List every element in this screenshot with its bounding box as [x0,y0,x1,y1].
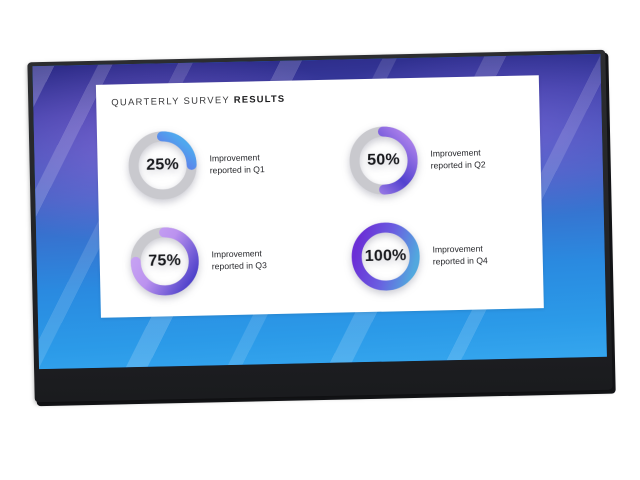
kpi-label-q1: Improvement reported in Q1 [209,151,264,177]
kpi-label-q3-line2: reported in Q3 [212,259,267,273]
kpi-label-q4: Improvement reported in Q4 [432,242,487,268]
kpi-label-q1-line1: Improvement [209,151,264,165]
donut-chart-q3: 75% [126,223,204,301]
donut-value-q3: 75% [127,252,203,272]
kpi-label-q1-line2: reported in Q1 [210,163,265,177]
kpi-label-q2-line1: Improvement [430,146,485,160]
kpi-label-q2-line2: reported in Q2 [431,158,486,172]
donut-ring-q4: 100% [347,218,425,296]
donut-chart-q1: 25% [124,127,202,205]
monitor-device: QUARTERLY SURVEY RESULTS [27,50,612,403]
kpi-label-q3-line1: Improvement [211,247,266,261]
kpi-label-q4-line2: reported in Q4 [433,254,488,268]
kpi-q2[interactable]: 50% Improvement reported in Q2 [345,120,487,199]
donut-ring-q1: 25% [124,127,202,205]
donut-chart-q2: 50% [345,122,423,200]
donut-value-q4: 100% [347,247,423,267]
kpi-q4[interactable]: 100% Improvement reported in Q4 [347,216,489,295]
slide-title-emphasis: RESULTS [234,93,286,105]
kpi-label-q2: Improvement reported in Q2 [430,146,485,172]
slide-title: QUARTERLY SURVEY RESULTS [111,93,285,108]
donut-value-q2: 50% [345,151,421,171]
presentation-slide[interactable]: QUARTERLY SURVEY RESULTS [96,75,544,318]
kpi-label-q4-line1: Improvement [432,242,487,256]
kpi-q1[interactable]: 25% Improvement reported in Q1 [124,125,266,204]
donut-chart-q4: 100% [347,218,425,296]
slide-title-prefix: QUARTERLY SURVEY [111,94,234,108]
kpi-q3[interactable]: 75% Improvement reported in Q3 [126,221,268,300]
monitor-screen: QUARTERLY SURVEY RESULTS [32,54,606,369]
kpi-label-q3: Improvement reported in Q3 [211,247,266,273]
donut-value-q1: 25% [124,156,200,176]
donut-ring-q2: 50% [345,122,423,200]
donut-ring-q3: 75% [126,223,204,301]
screenshot-stage: QUARTERLY SURVEY RESULTS [0,0,640,480]
